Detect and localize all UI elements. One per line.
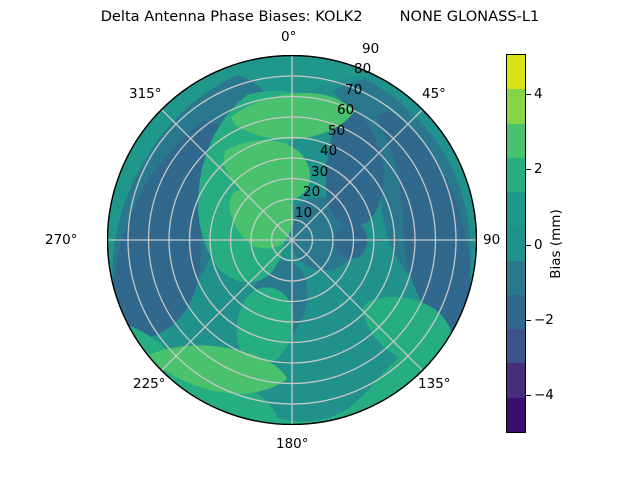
colorbar-band-1	[507, 192, 525, 226]
colorbar-band-n1	[507, 261, 525, 295]
colorbar-tick-mark-neg4	[525, 395, 531, 396]
colorbar-band-n5	[507, 398, 525, 432]
colorbar-axis-label: Bias (mm)	[548, 209, 564, 278]
radial-tick-80: 80	[354, 61, 371, 77]
radial-tick-40: 40	[320, 143, 337, 159]
radial-tick-20: 20	[303, 184, 320, 200]
colorbar-band-0	[507, 226, 525, 260]
colorbar-tick-label-neg2: −2	[534, 312, 554, 328]
radial-tick-10: 10	[295, 205, 312, 221]
radial-tick-50: 50	[328, 123, 345, 139]
angle-tick-225: 225°	[133, 376, 166, 392]
page-title: Delta Antenna Phase Biases: KOLK2 NONE G…	[0, 8, 640, 25]
colorbar-band-n3	[507, 329, 525, 363]
colorbar-band-n4	[507, 363, 525, 397]
colorbar[interactable]	[507, 55, 525, 432]
angle-tick-135: 135°	[418, 376, 451, 392]
colorbar-band-2	[507, 158, 525, 192]
colorbar-tick-label-0: 0	[534, 237, 543, 253]
colorbar-tick-mark-4	[525, 94, 531, 95]
colorbar-tick-mark-neg2	[525, 320, 531, 321]
colorbar-tick-mark-2	[525, 169, 531, 170]
colorbar-band-n2	[507, 295, 525, 329]
angle-tick-180: 180°	[276, 436, 309, 452]
colorbar-tick-label-neg4: −4	[534, 387, 554, 403]
angle-tick-315: 315°	[129, 86, 162, 102]
colorbar-band-4	[507, 89, 525, 123]
radial-tick-30: 30	[311, 164, 328, 180]
angle-tick-45: 45°	[422, 86, 446, 102]
figure-canvas: Delta Antenna Phase Biases: KOLK2 NONE G…	[0, 0, 640, 480]
angle-tick-90: 90	[483, 232, 500, 248]
angle-tick-270: 270°	[45, 232, 78, 248]
polar-axes: 10 20 30 40 50 60 70 80 90	[107, 55, 477, 425]
polar-contour-plot	[107, 55, 477, 425]
angle-tick-0: 0°	[281, 29, 296, 45]
colorbar-tick-label-2: 2	[534, 161, 543, 177]
colorbar-tick-mark-0	[525, 245, 531, 246]
colorbar-band-5	[507, 55, 525, 89]
radial-tick-70: 70	[345, 82, 362, 98]
colorbar-band-3	[507, 124, 525, 158]
colorbar-tick-label-4: 4	[534, 86, 543, 102]
polar-grid-spokes	[108, 56, 477, 425]
radial-tick-90: 90	[362, 41, 379, 57]
radial-tick-60: 60	[337, 102, 354, 118]
